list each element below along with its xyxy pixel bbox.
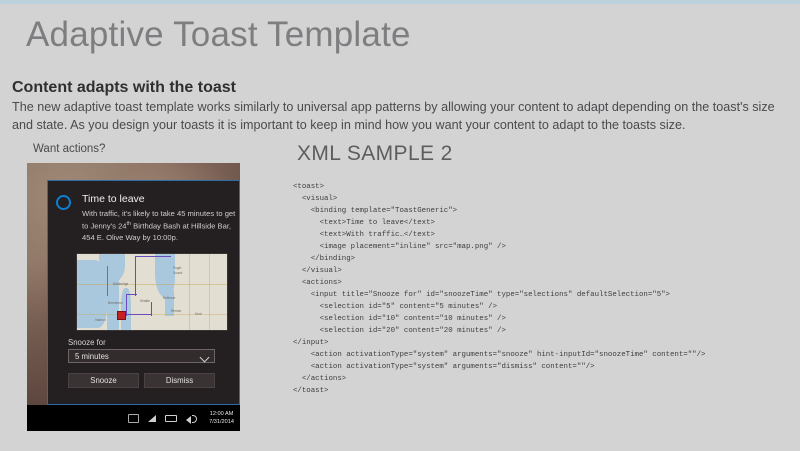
toast-body-text: With traffic, it's likely to take 45 min… xyxy=(82,208,240,243)
taskbar-time: 12:00 AM xyxy=(210,411,234,417)
xml-sample-code: <toast> <visual> <binding template="Toas… xyxy=(293,182,753,398)
toast-title: Time to leave xyxy=(82,193,145,205)
page-title: Adaptive Toast Template xyxy=(26,16,411,55)
snooze-select[interactable]: 5 minutes xyxy=(68,349,215,363)
desktop-screenshot: Time to leave With traffic, it's likely … xyxy=(27,163,240,431)
snooze-select-value: 5 minutes xyxy=(75,352,109,361)
section-heading: Content adapts with the toast xyxy=(12,79,236,97)
snooze-input-label: Snooze for xyxy=(68,338,106,347)
taskbar-date: 7/31/2014 xyxy=(209,419,234,425)
toast-notification[interactable]: Time to leave With traffic, it's likely … xyxy=(47,180,240,405)
map-destination-pin xyxy=(117,311,126,320)
action-center-icon[interactable] xyxy=(128,414,139,423)
slide-canvas: Adaptive Toast Template Content adapts w… xyxy=(0,0,800,451)
toast-inline-map-image: Puget Sound Bainbridge Seattle Bellevue … xyxy=(76,253,228,331)
chevron-down-icon xyxy=(200,353,210,363)
xml-sample-title: XML SAMPLE 2 xyxy=(297,142,453,166)
battery-icon[interactable] xyxy=(165,415,177,422)
volume-icon[interactable] xyxy=(186,414,196,422)
cortana-ring-icon xyxy=(56,195,71,210)
section-body-text: The new adaptive toast template works si… xyxy=(12,99,788,135)
snooze-button[interactable]: Snooze xyxy=(68,373,139,388)
accent-strip xyxy=(0,0,800,4)
network-icon[interactable] xyxy=(148,415,156,422)
screenshot-caption: Want actions? xyxy=(33,143,105,155)
taskbar[interactable]: 12:00 AM 7/31/2014 xyxy=(27,405,240,431)
system-tray: 12:00 AM 7/31/2014 xyxy=(128,405,234,431)
taskbar-clock[interactable]: 12:00 AM 7/31/2014 xyxy=(209,410,234,427)
dismiss-button[interactable]: Dismiss xyxy=(144,373,215,388)
